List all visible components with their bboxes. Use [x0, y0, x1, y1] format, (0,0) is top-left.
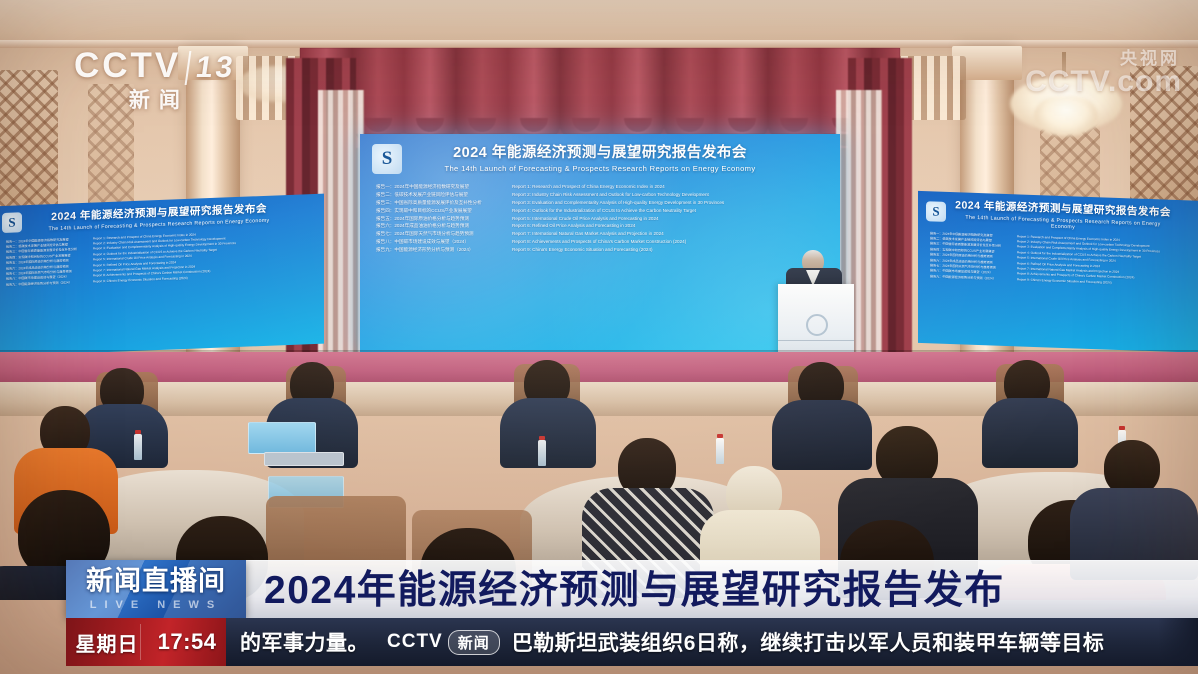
report-item: 报告七：2024年国际天然气市场分析与趋势预测: [376, 230, 496, 238]
main-led-screen: S 2024 年能源经济预测与展望研究报告发布会 The 14th Launch…: [360, 134, 840, 356]
podium-trim: [778, 340, 854, 341]
bottle-cap: [1119, 426, 1125, 430]
ticker-fade-mask: [1158, 618, 1198, 666]
organization-logo-icon: S: [926, 202, 946, 223]
bottle-cap: [135, 430, 141, 434]
channel-number: 13: [185, 51, 238, 85]
bottle-cap: [539, 436, 545, 440]
wall-lattice-panel: [0, 70, 58, 220]
ticker-datetime: 星期日 17:54: [66, 618, 226, 666]
report-item: 报告一：2024年中国能源经济指数研究及展望: [376, 183, 496, 191]
headline-text: 2024年能源经济预测与展望研究报告发布: [264, 571, 1005, 610]
watermark-en: CCTV.com: [1025, 65, 1182, 99]
water-bottle: [716, 438, 724, 464]
water-bottle: [134, 434, 142, 460]
laptop-base: [264, 452, 344, 466]
channel-logo: CCTV 13 新闻: [74, 46, 236, 114]
ticker-previous-tail: 的军事力量。: [240, 627, 369, 657]
curtain-valance: [300, 48, 900, 134]
audience-member: [772, 400, 872, 470]
audience-member: [982, 398, 1078, 468]
logo-glyph: S: [8, 215, 15, 231]
organization-logo-icon: S: [2, 213, 22, 234]
laptop: [248, 422, 316, 454]
report-list-en: Report 1: Research and Prospect of China…: [512, 183, 824, 254]
site-watermark: 央视网 CCTV.com: [1025, 44, 1182, 99]
program-logo: 新闻直播间 LIVE NEWS: [66, 560, 246, 618]
logo-glyph: S: [932, 204, 939, 220]
broadcast-screenshot: S 2024 年能源经济预测与展望研究报告发布会 The 14th Launch…: [0, 0, 1198, 674]
ticker-weekday: 星期日: [76, 628, 139, 657]
ticker-badge-network: CCTV: [387, 631, 443, 653]
report-item: Report 7: International Natural Gas Mark…: [512, 230, 824, 238]
headline-bar: 2024年能源经济预测与展望研究报告发布: [246, 560, 1198, 619]
ticker-headline: 巴勒斯坦武装组织6日称，继续打击以军人员和装甲车辆等目标: [512, 627, 1105, 657]
report-list-cn: 报告一：2024年中国能源经济指数研究及展望 报告二：低碳技术发展产业链风险评估…: [376, 183, 496, 254]
sheer-drape-left: [318, 90, 364, 380]
report-item: Report 9: China's Energy Economic Situat…: [512, 246, 824, 254]
ticker-content: 的军事力量。 CCTV 新闻 巴勒斯坦武装组织6日称，继续打击以军人员和装甲车辆…: [226, 618, 1198, 666]
program-name-cn: 新闻直播间: [86, 568, 226, 595]
ticker-clock: 17:54: [158, 629, 217, 655]
lower-third: 新闻直播间 LIVE NEWS 2024年能源经济预测与展望研究报告发布: [66, 560, 1198, 618]
screen-report-lists: 报告一：2024年中国能源经济指数研究及展望 报告二：低碳技术发展产业链风险评估…: [372, 183, 828, 254]
report-item: 报告六：2024年成品油油价格分析与趋势预测: [376, 222, 496, 230]
water-bottle: [538, 440, 546, 466]
report-item: 报告五：2024年国际原油价格分析与趋势预测: [376, 215, 496, 223]
side-led-screen-left: S 2024 年能源经济预测与展望研究报告发布会 The 14th Launch…: [0, 194, 324, 357]
screen-title-cn: 2024 年能源经济预测与展望研究报告发布会: [410, 145, 790, 162]
report-item: Report 3: Evaluation and Complementarity…: [512, 199, 824, 207]
report-item: Report 4: Outlook for the Industrializat…: [512, 207, 824, 215]
report-item: 报告二：低碳技术发展产业链风险评估与展望: [376, 191, 496, 199]
organization-logo-icon: S: [372, 144, 402, 174]
audience-member: [500, 398, 596, 468]
news-ticker-bar: 星期日 17:54 的军事力量。 CCTV 新闻 巴勒斯坦武装组织6日称，继续打…: [66, 618, 1198, 666]
chandelier-light: [1034, 96, 1098, 136]
logo-glyph: S: [382, 148, 393, 170]
report-item: 报告八：中国碳市场建设成效与展望（2024）: [376, 238, 496, 246]
report-item: Report 6: Refined Oil Price Analysis and…: [512, 222, 824, 230]
ticker-source-badge: CCTV 新闻: [387, 630, 500, 655]
report-item: Report 5: International Crude Oil Price …: [512, 215, 824, 223]
podium-logo-icon: [806, 314, 828, 336]
report-item: Report 2: Industry Chain Risk Assessment…: [512, 191, 824, 199]
screen-title-en: The 14th Launch of Forecasting & Prospec…: [410, 164, 790, 173]
report-item: 报告三：中国省际高质量能源发展评价及互补性分析: [376, 199, 496, 207]
report-item: Report 1: Research and Prospect of China…: [512, 183, 824, 191]
report-item: 报告九：中国能源经济形势分析与预测（2024）: [376, 246, 496, 254]
report-item: 报告四：实现碳中和目标的CCUS产业发展展望: [376, 207, 496, 215]
screen-header: S 2024 年能源经济预测与展望研究报告发布会 The 14th Launch…: [372, 144, 828, 174]
channel-network-label: CCTV: [74, 46, 181, 86]
report-item: Report 8: Achievements and Prospects of …: [512, 238, 824, 246]
side-led-screen-right: S 2024 年能源经济预测与展望研究报告发布会 The 14th Launch…: [918, 191, 1198, 353]
channel-name-cn: 新闻: [74, 84, 236, 114]
bottle-cap: [717, 434, 723, 438]
ticker-badge-label: 新闻: [448, 630, 500, 655]
program-name-en: LIVE NEWS: [90, 599, 223, 611]
